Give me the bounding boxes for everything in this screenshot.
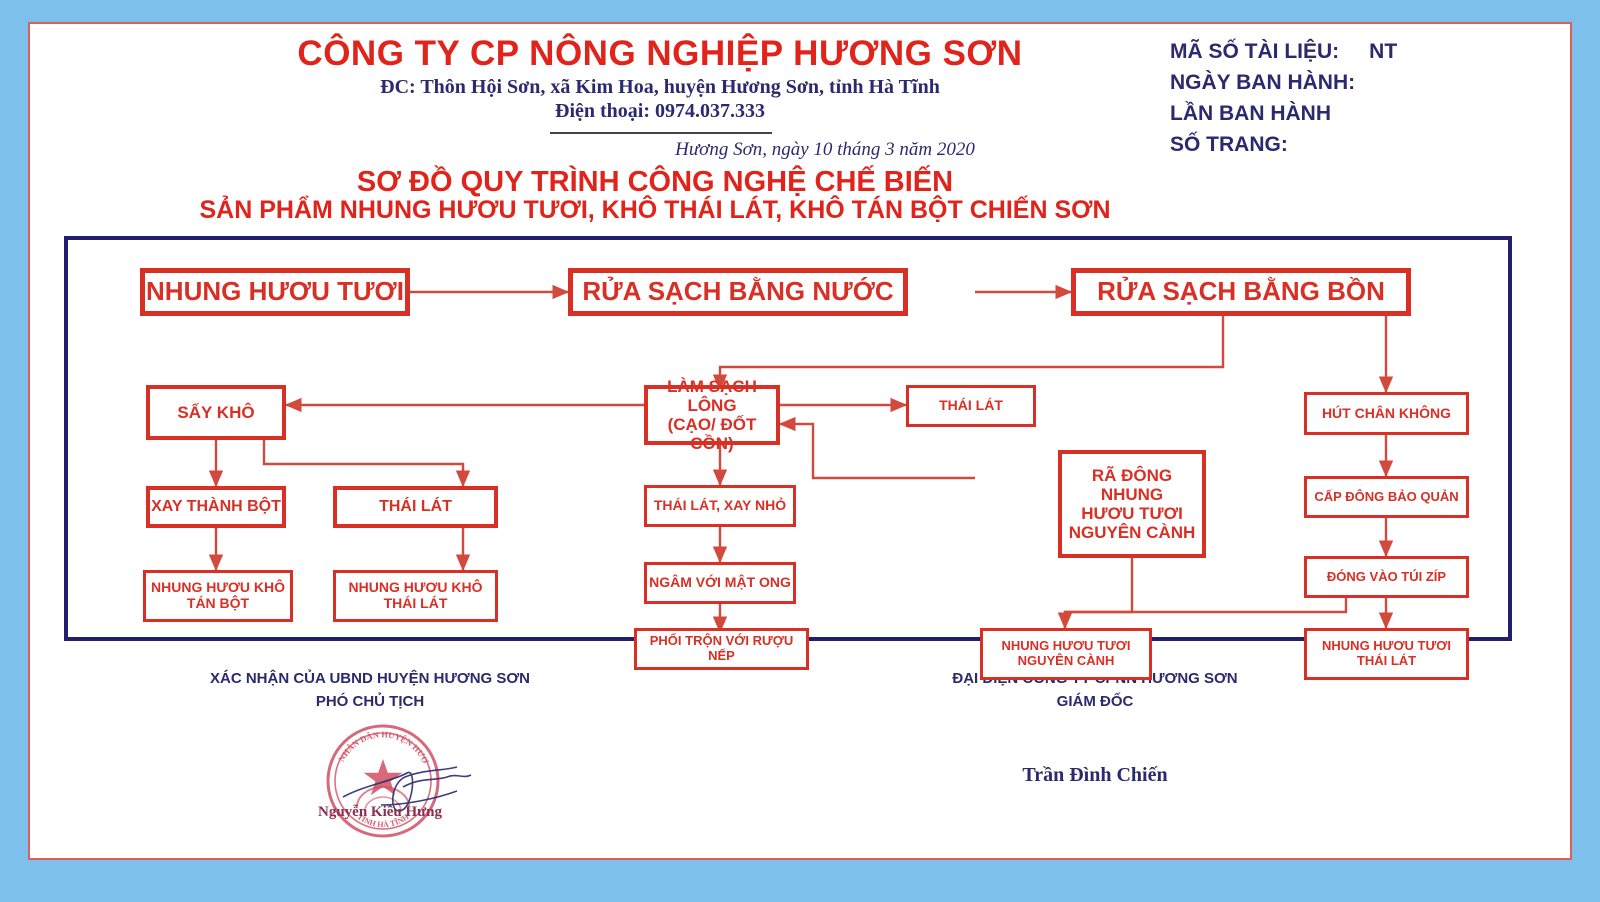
- flow-node-thai-lat-right[interactable]: THÁI LÁT: [906, 385, 1036, 427]
- flow-node-nhung-huou-tuoi-nguyen-canh[interactable]: NHUNG HƯƠU TƯƠI NGUYÊN CÀNH: [980, 628, 1152, 680]
- meta-doc-code-value: NT: [1369, 36, 1397, 67]
- company-name: CÔNG TY CP NÔNG NGHIỆP HƯƠNG SƠN: [160, 34, 1160, 74]
- flow-node-dong-vao-tui-zip[interactable]: ĐÓNG VÀO TÚI ZÍP: [1304, 556, 1469, 598]
- flow-node-xay-thanh-bot[interactable]: XAY THÀNH BỘT: [146, 486, 286, 528]
- flow-node-hut-chan-khong[interactable]: HÚT CHÂN KHÔNG: [1304, 392, 1469, 435]
- official-stamp: ỦY BAN NHÂN DÂN HUYỆN HƯƠNG SƠN TỈNH HÀ …: [285, 719, 535, 849]
- flow-node-thai-lat-xay-nho[interactable]: THÁI LÁT, XAY NHỎ: [644, 485, 796, 527]
- flowchart-canvas: NHUNG HƯƠU TƯƠI RỬA SẠCH BẰNG NƯỚC RỬA S…: [68, 240, 1508, 637]
- meta-page-count: SỐ TRANG:: [1170, 129, 1397, 160]
- footer-right-signer: Trần Đình Chiến: [865, 764, 1325, 787]
- header-divider: [550, 132, 772, 134]
- flow-node-cap-dong-bao-quan[interactable]: CẤP ĐÔNG BẢO QUẢN: [1304, 476, 1469, 518]
- footer-left-signer: Nguyễn Kiều Hưng: [255, 804, 505, 821]
- company-phone: Điện thoại: 0974.037.333: [160, 100, 1160, 123]
- document-metadata: MÃ SỐ TÀI LIỆU:NT NGÀY BAN HÀNH: LẦN BAN…: [1170, 36, 1397, 160]
- footer-right-line2: GIÁM ĐỐC: [865, 690, 1325, 713]
- flow-node-say-kho[interactable]: SẤY KHÔ: [146, 385, 286, 440]
- flow-node-rua-sach-bang-bon[interactable]: RỬA SẠCH BẰNG BỒN: [1071, 268, 1411, 316]
- footer-left-line2: PHÓ CHỦ TỊCH: [140, 690, 600, 713]
- footer-left-block: XÁC NHẬN CỦA UBND HUYỆN HƯƠNG SƠN PHÓ CH…: [140, 667, 600, 713]
- flow-node-ra-dong-nhung-huou[interactable]: RÃ ĐÔNG NHUNG HƯƠU TƯƠI NGUYÊN CÀNH: [1058, 450, 1206, 558]
- flowchart-frame: NHUNG HƯƠU TƯƠI RỬA SẠCH BẰNG NƯỚC RỬA S…: [64, 236, 1512, 641]
- diagram-title-line2: SẢN PHẨM NHUNG HƯƠU TƯƠI, KHÔ THÁI LÁT, …: [30, 196, 1280, 225]
- footer-left-line1: XÁC NHẬN CỦA UBND HUYỆN HƯƠNG SƠN: [140, 667, 600, 690]
- document-page: CÔNG TY CP NÔNG NGHIỆP HƯƠNG SƠN ĐC: Thô…: [28, 22, 1572, 860]
- flow-node-nhung-huou-kho-tan-bot[interactable]: NHUNG HƯƠU KHÔ TÁN BỘT: [143, 570, 293, 622]
- meta-doc-code-label: MÃ SỐ TÀI LIỆU:: [1170, 40, 1339, 63]
- meta-issue-count: LẦN BAN HÀNH: [1170, 98, 1397, 129]
- flow-node-ngam-voi-mat-ong[interactable]: NGÂM VỚI MẬT ONG: [644, 562, 796, 604]
- flow-node-phoi-tron-voi-ruou-nep[interactable]: PHỐI TRỘN VỚI RƯỢU NẾP: [634, 628, 809, 670]
- flow-node-nhung-huou-tuoi[interactable]: NHUNG HƯƠU TƯƠI: [140, 268, 410, 316]
- flow-node-nhung-huou-kho-thai-lat[interactable]: NHUNG HƯƠU KHÔ THÁI LÁT: [333, 570, 498, 622]
- diagram-title-line1: SƠ ĐỒ QUY TRÌNH CÔNG NGHỆ CHẾ BIẾN: [30, 166, 1280, 199]
- flow-node-lam-sach-long[interactable]: LÀM SẠCH LÔNG (CẠO/ ĐỐT CỒN): [644, 385, 780, 445]
- flow-node-thai-lat-left[interactable]: THÁI LÁT: [333, 486, 498, 528]
- place-and-date: Hương Sơn, ngày 10 tháng 3 năm 2020: [500, 139, 1150, 161]
- meta-doc-code: MÃ SỐ TÀI LIỆU:NT: [1170, 36, 1397, 67]
- flow-node-nhung-huou-tuoi-thai-lat[interactable]: NHUNG HƯƠU TƯƠI THÁI LÁT: [1304, 628, 1469, 680]
- stamp-icon: ỦY BAN NHÂN DÂN HUYỆN HƯƠNG SƠN TỈNH HÀ …: [285, 719, 535, 849]
- flow-node-rua-sach-bang-nuoc[interactable]: RỬA SẠCH BẰNG NƯỚC: [568, 268, 908, 316]
- meta-issue-date: NGÀY BAN HÀNH:: [1170, 67, 1397, 98]
- company-address: ĐC: Thôn Hội Sơn, xã Kim Hoa, huyện Hươn…: [160, 76, 1160, 99]
